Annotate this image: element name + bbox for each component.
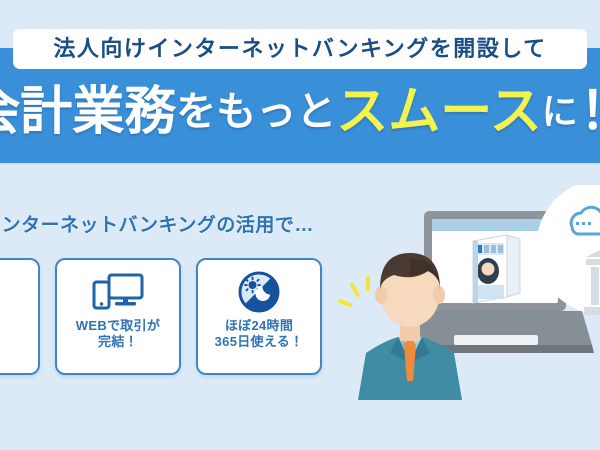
headline-segment-4: に bbox=[542, 94, 578, 130]
sparkle-icon bbox=[340, 278, 368, 305]
headline-segment-1: 会計業務 bbox=[0, 86, 176, 138]
feature-card-web-label: WEBで取引が 完結！ bbox=[76, 318, 160, 350]
subtitle: インターネットバンキングの活用で… bbox=[0, 210, 314, 237]
headline-segment-2: をもっと bbox=[176, 92, 336, 132]
feature-card-web[interactable]: WEBで取引が 完結！ bbox=[55, 258, 181, 375]
feature-card-24h-label-line-2: 365日使える！ bbox=[215, 334, 304, 350]
day-night-circle-icon bbox=[237, 270, 281, 314]
hero-pill: 法人向けインターネットバンキングを開設して bbox=[13, 29, 587, 69]
feature-card-web-label-line-1: WEBで取引が bbox=[76, 318, 160, 334]
feature-card-24h[interactable]: ほぼ24時間 365日使える！ bbox=[196, 258, 322, 375]
hero-pill-text: 法人向けインターネットバンキングを開設して bbox=[53, 38, 546, 60]
headline-segment-3-accent: スムース bbox=[336, 86, 541, 138]
feature-card-web-label-line-2: 完結！ bbox=[76, 334, 160, 350]
page-title: 会計業務 をもっと スムース に ！ bbox=[0, 78, 600, 146]
devices-phone-monitor-icon bbox=[90, 270, 146, 314]
software-box-product bbox=[473, 235, 520, 303]
cloud-icon-text bbox=[576, 222, 591, 225]
headline-segment-5: ！ bbox=[580, 86, 600, 138]
promo-banner-root: 法人向けインターネットバンキングを開設して 会計業務 をもっと スムース に ！… bbox=[0, 0, 600, 450]
feature-card-24h-label: ほぼ24時間 365日使える！ bbox=[215, 318, 304, 350]
feature-card-24h-label-line-1: ほぼ24時間 bbox=[215, 318, 304, 334]
hero-illustration bbox=[336, 185, 600, 400]
hero-band-bottom-edge bbox=[0, 163, 600, 165]
feature-card-fast[interactable]: ！ bbox=[0, 258, 40, 375]
